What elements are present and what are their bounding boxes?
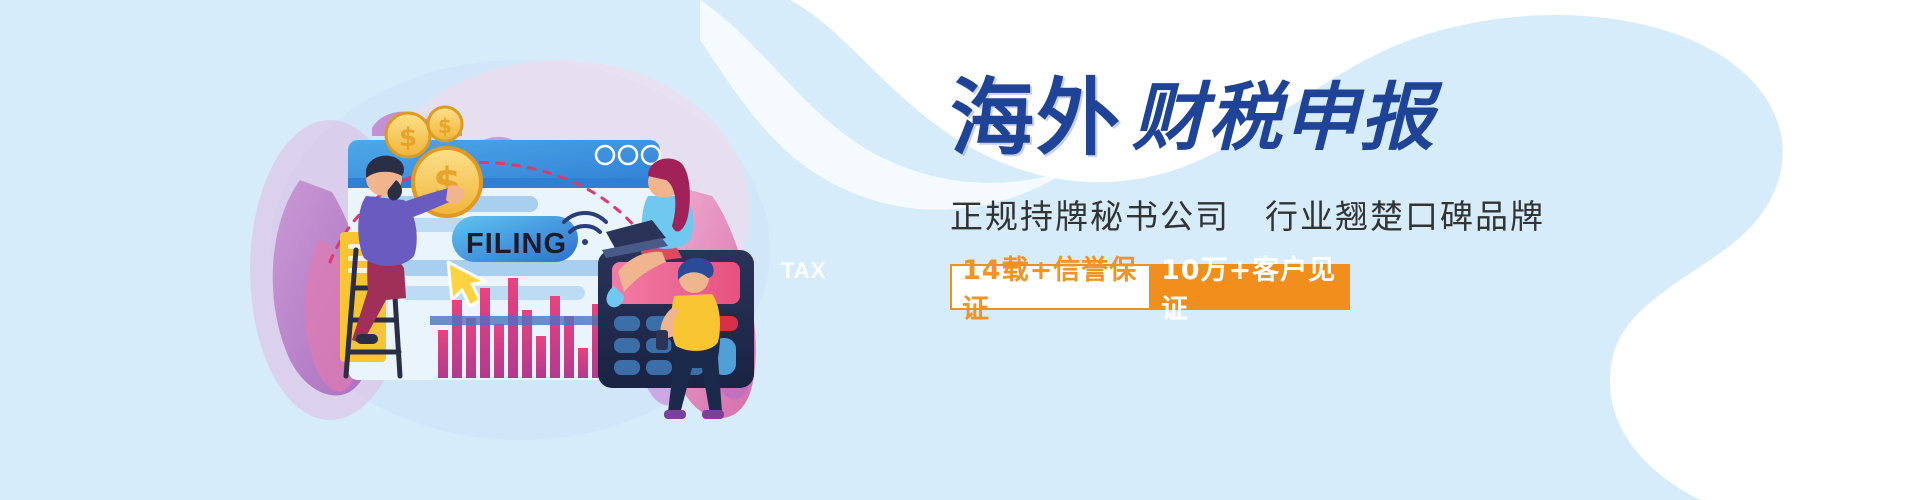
headline: 海外 财税申报 — [950, 70, 1850, 166]
calculator-display-label: TAX — [781, 258, 826, 284]
coin-small-2: $ — [428, 107, 462, 141]
badge-experience: 14载+信誉保证 — [950, 264, 1151, 310]
badge-row: 14载+信誉保证 10万+客户见证 — [950, 264, 1350, 310]
marketing-copy: 海外 财税申报 正规持牌秘书公司 行业翘楚口碑品牌 14载+信誉保证 10万+客… — [950, 70, 1850, 370]
headline-primary: 海外 — [950, 70, 1122, 166]
badge-customers: 10万+客户见证 — [1151, 264, 1350, 310]
coin-small-1: $ — [386, 113, 430, 157]
promo-banner: $ $ $ — [0, 0, 1920, 500]
filing-button-label: FILING — [466, 228, 567, 261]
svg-text:$: $ — [399, 123, 417, 153]
phone-icon — [656, 330, 668, 350]
headline-secondary: 财税申报 — [1132, 70, 1436, 166]
subtitle: 正规持牌秘书公司 行业翘楚口碑品牌 — [950, 190, 1850, 238]
svg-text:$: $ — [438, 114, 452, 138]
